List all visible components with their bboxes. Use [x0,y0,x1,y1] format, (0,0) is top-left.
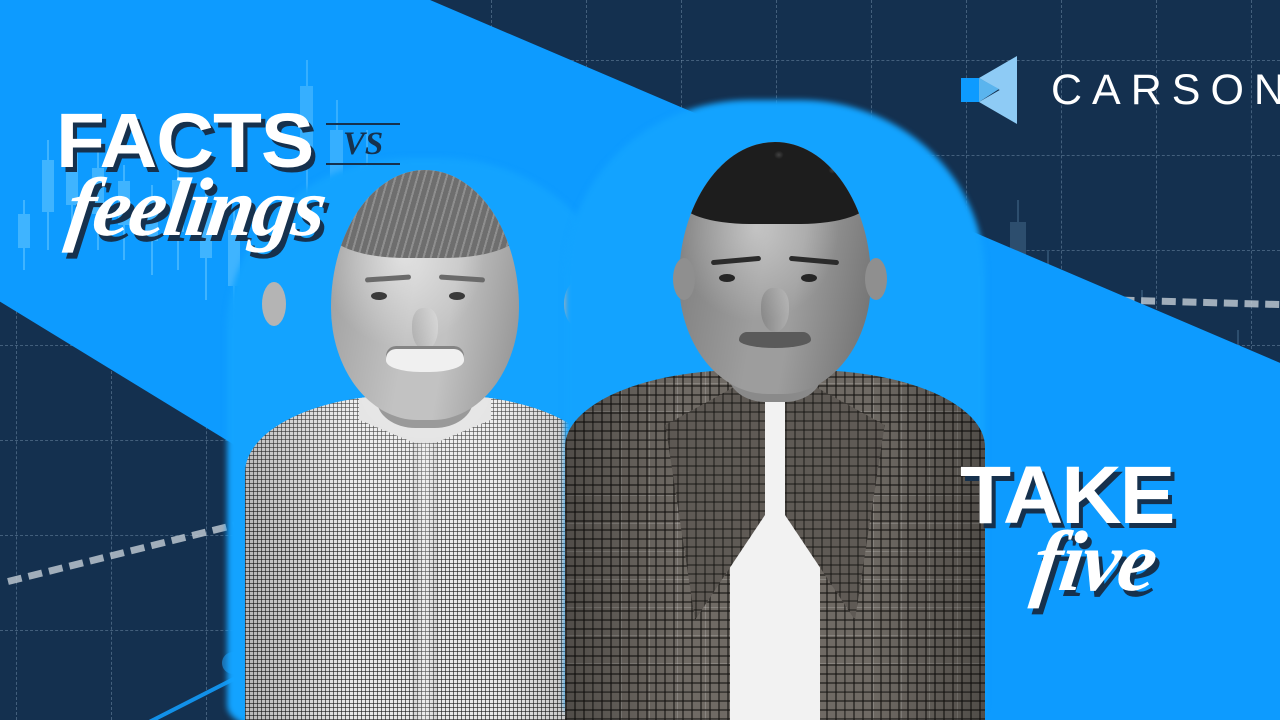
versus-rule-bottom [326,163,400,165]
host-left-smile [386,346,464,372]
take-five-logo: TAKE five [946,455,1236,615]
host-right [545,60,1005,720]
facts-vs-feelings-logo: FACTS VS feelings [56,103,416,181]
host-right-blazer [565,370,985,720]
segment-title-line2: five [1028,517,1161,605]
host-right-head [679,142,871,394]
host-right-smile [739,332,811,348]
carson-logo[interactable]: CARSON [957,56,1280,124]
host-right-hair [679,142,871,224]
carson-chevron-icon [957,56,1017,124]
show-title-line2: feelings [62,165,330,249]
versus-label: VS [326,127,400,161]
episode-cover-canvas: FACTS VS feelings TAKE five CARSON [0,0,1280,720]
versus-mark: VS [326,121,400,167]
versus-rule-top [326,123,400,125]
carson-wordmark: CARSON [1051,68,1280,112]
host-right-figure [545,60,1005,720]
host-left-head [331,170,519,420]
